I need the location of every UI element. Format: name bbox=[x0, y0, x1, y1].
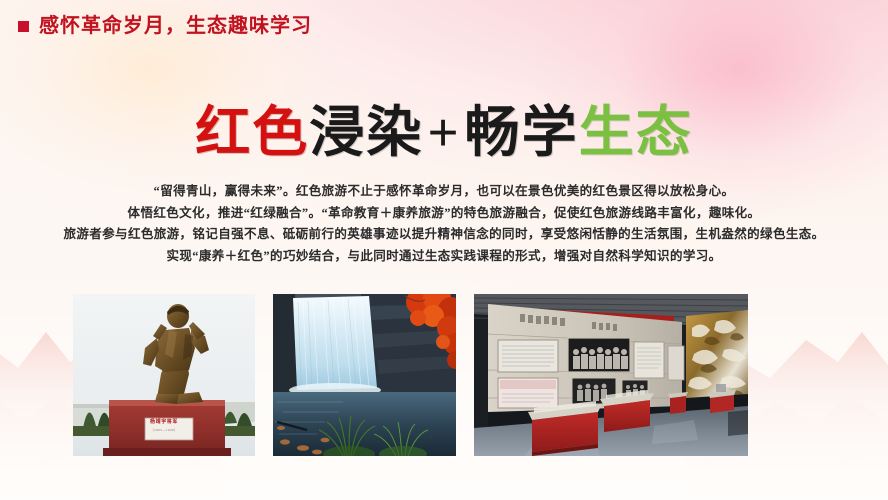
main-title-plus: + bbox=[423, 102, 464, 163]
body-paragraph: “留得青山，赢得未来”。红色旅游不止于感怀革命岁月，也可以在景色优美的红色景区得… bbox=[52, 181, 836, 267]
memorial-exhibition-hall-photo bbox=[474, 294, 748, 456]
body-line-2: 体悟红色文化，推进“红绿融合”。“革命教育＋康养旅游”的特色旅游融合，促使红色旅… bbox=[52, 203, 836, 225]
slide-root: 感怀革命岁月，生态趣味学习 红色浸染+畅学生态 “留得青山，赢得未来”。红色旅游… bbox=[0, 0, 888, 500]
main-title-segment-black-2: 畅学 bbox=[465, 102, 579, 163]
waterfall-autumn-photo bbox=[273, 294, 456, 456]
body-line-1: “留得青山，赢得未来”。红色旅游不止于感怀革命岁月，也可以在景色优美的红色景区得… bbox=[52, 181, 836, 203]
body-line-3: 旅游者参与红色旅游，铭记自强不息、砥砺前行的英雄事迹以提升精神信念的同时，享受悠… bbox=[52, 224, 836, 246]
header-title: 感怀革命岁月，生态趣味学习 bbox=[39, 16, 312, 36]
red-square-bullet-icon bbox=[18, 21, 29, 32]
body-line-4: 实现“康养＋红色”的巧妙结合，与此同时通过生态实践课程的形式，增强对自然科学知识… bbox=[52, 246, 836, 268]
main-title-segment-red: 红色 bbox=[195, 102, 309, 163]
statue-plaque-dates: （1905—1940） bbox=[150, 429, 177, 432]
statue-plaque-name: 杨靖宇将军 bbox=[150, 420, 178, 425]
main-title-segment-black-1: 浸染 bbox=[309, 102, 423, 163]
main-title-segment-green: 生态 bbox=[579, 102, 693, 163]
revolutionary-hero-statue-photo: 杨靖宇将军 （1905—1940） bbox=[73, 294, 255, 456]
slide-header: 感怀革命岁月，生态趣味学习 bbox=[18, 16, 312, 36]
main-title: 红色浸染+畅学生态 bbox=[0, 104, 888, 162]
photo-strip: 杨靖宇将军 （1905—1940） bbox=[73, 294, 833, 456]
